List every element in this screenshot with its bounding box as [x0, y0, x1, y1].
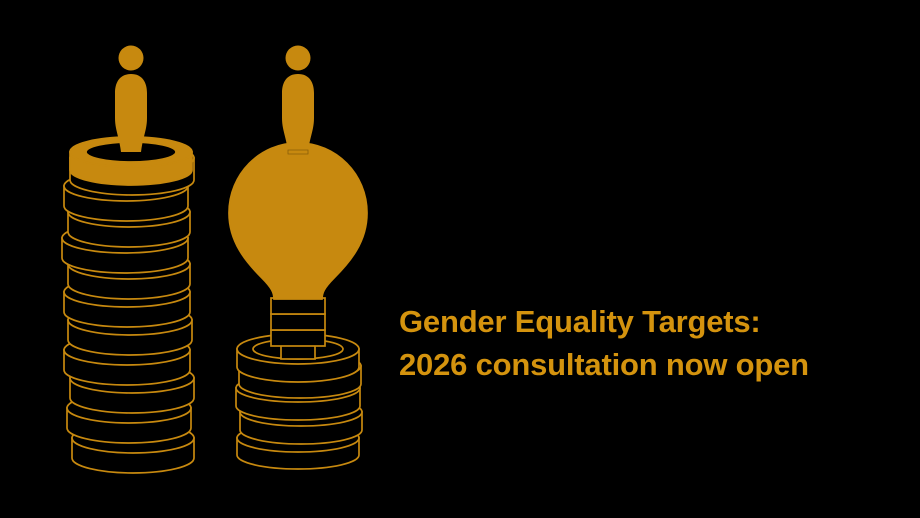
headline-line-1: Gender Equality Targets: [399, 300, 899, 343]
standing-person-right [282, 46, 314, 155]
banner: Gender Equality Targets: 2026 consultati… [0, 0, 920, 518]
bulb-base-band-1 [271, 298, 325, 314]
bulb-base-band-2 [271, 314, 325, 330]
headline: Gender Equality Targets: 2026 consultati… [399, 300, 899, 386]
headline-line-2: 2026 consultation now open [399, 343, 899, 386]
standing-person-left [115, 46, 147, 153]
bulb-base-band-3 [271, 330, 325, 346]
coins-and-lightbulb-illustration [0, 0, 400, 518]
right-bulb-and-coin-stack [229, 46, 367, 470]
light-bulb-glass [229, 143, 367, 299]
left-coin-stack [62, 46, 194, 473]
